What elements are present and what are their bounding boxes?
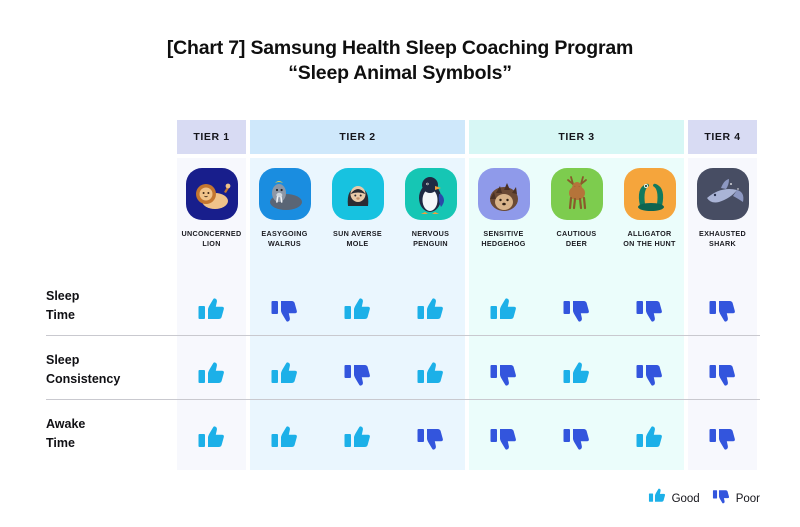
thumbs-down-icon xyxy=(540,408,613,468)
hedgehog-icon xyxy=(478,168,530,220)
row-label-1: SleepTime xyxy=(46,287,79,325)
animal-label-line-1: CAUTIOUS xyxy=(540,229,613,239)
legend: GoodPoor xyxy=(648,487,760,510)
animal-label: NERVOUSPENGUIN xyxy=(394,229,467,248)
thumbs-up-icon xyxy=(540,344,613,404)
animal-label: SUN AVERSEMOLE xyxy=(321,229,394,248)
animal-label-line-2: LION xyxy=(175,239,248,249)
thumbs-up-icon xyxy=(394,280,467,340)
row-divider-2 xyxy=(46,399,760,400)
title-line-2: “Sleep Animal Symbols” xyxy=(0,61,800,86)
walrus-icon xyxy=(259,168,311,220)
thumbs-down-icon xyxy=(540,280,613,340)
thumbs-up-icon xyxy=(394,344,467,404)
legend-item-2: Poor xyxy=(712,487,760,510)
mole-icon xyxy=(332,168,384,220)
shark-icon xyxy=(697,168,749,220)
thumbs-up-icon xyxy=(175,280,248,340)
legend-label: Poor xyxy=(736,493,760,505)
tier-header-4: TIER 4 xyxy=(688,120,757,154)
thumbs-down-icon xyxy=(686,280,759,340)
row-label-line-1: Sleep xyxy=(46,351,120,370)
animal-label: SENSITIVEHEDGEHOG xyxy=(467,229,540,248)
animal-label: CAUTIOUSDEER xyxy=(540,229,613,248)
page-title: [Chart 7] Samsung Health Sleep Coaching … xyxy=(0,36,800,86)
thumbs-up-icon xyxy=(321,408,394,468)
animal-label-line-2: DEER xyxy=(540,239,613,249)
thumbs-down-icon xyxy=(613,344,686,404)
thumbs-up-icon xyxy=(467,280,540,340)
animal-label-line-2: MOLE xyxy=(321,239,394,249)
animal-label-line-2: WALRUS xyxy=(248,239,321,249)
tier-header-label: TIER 1 xyxy=(193,131,229,143)
penguin-icon xyxy=(405,168,457,220)
thumbs-down-icon xyxy=(686,408,759,468)
tier-header-label: TIER 2 xyxy=(339,131,375,143)
animal-label-line-2: PENGUIN xyxy=(394,239,467,249)
animal-column-3: SUN AVERSEMOLE xyxy=(321,158,394,248)
tier-header-2: TIER 2 xyxy=(250,120,465,154)
animal-label: EASYGOINGWALRUS xyxy=(248,229,321,248)
thumbs-down-icon xyxy=(686,344,759,404)
row-label-line-2: Time xyxy=(46,434,85,453)
thumbs-up-icon xyxy=(175,344,248,404)
animal-label-line-2: ON THE HUNT xyxy=(613,239,686,249)
title-line-1: [Chart 7] Samsung Health Sleep Coaching … xyxy=(0,36,800,61)
animal-label-line-1: SUN AVERSE xyxy=(321,229,394,239)
alligator-icon xyxy=(624,168,676,220)
thumbs-down-icon xyxy=(467,344,540,404)
animal-column-6: CAUTIOUSDEER xyxy=(540,158,613,248)
animal-label-line-1: ALLIGATOR xyxy=(613,229,686,239)
animal-column-2: EASYGOINGWALRUS xyxy=(248,158,321,248)
thumbs-down-icon xyxy=(467,408,540,468)
animal-column-1: UNCONCERNEDLION xyxy=(175,158,248,248)
thumbs-up-icon xyxy=(613,408,686,468)
animal-label-line-1: UNCONCERNED xyxy=(175,229,248,239)
row-label-line-2: Time xyxy=(46,306,79,325)
row-label-3: AwakeTime xyxy=(46,415,85,453)
thumbs-down-icon xyxy=(712,487,731,510)
tier-header-label: TIER 3 xyxy=(558,131,594,143)
tier-header-3: TIER 3 xyxy=(469,120,684,154)
animal-label-line-2: SHARK xyxy=(686,239,759,249)
thumbs-down-icon xyxy=(248,280,321,340)
legend-label: Good xyxy=(672,493,700,505)
animal-label-line-1: EASYGOING xyxy=(248,229,321,239)
thumbs-up-icon xyxy=(248,408,321,468)
animal-label-line-1: NERVOUS xyxy=(394,229,467,239)
row-divider-1 xyxy=(46,335,760,336)
row-label-2: SleepConsistency xyxy=(46,351,120,389)
thumbs-down-icon xyxy=(613,280,686,340)
thumbs-down-icon xyxy=(394,408,467,468)
animal-label: UNCONCERNEDLION xyxy=(175,229,248,248)
thumbs-up-icon xyxy=(648,487,667,510)
animal-column-4: NERVOUSPENGUIN xyxy=(394,158,467,248)
animal-label: EXHAUSTEDSHARK xyxy=(686,229,759,248)
deer-icon xyxy=(551,168,603,220)
tier-header-label: TIER 4 xyxy=(704,131,740,143)
animal-column-7: ALLIGATORON THE HUNT xyxy=(613,158,686,248)
lion-icon xyxy=(186,168,238,220)
row-label-line-1: Awake xyxy=(46,415,85,434)
animal-column-8: EXHAUSTEDSHARK xyxy=(686,158,759,248)
tier-header-row: TIER 1TIER 2TIER 3TIER 4 xyxy=(175,120,760,154)
animal-label-line-1: SENSITIVE xyxy=(467,229,540,239)
legend-item-1: Good xyxy=(648,487,700,510)
thumbs-down-icon xyxy=(321,344,394,404)
tier-header-1: TIER 1 xyxy=(177,120,246,154)
thumbs-up-icon xyxy=(248,344,321,404)
animal-label: ALLIGATORON THE HUNT xyxy=(613,229,686,248)
animal-label-line-2: HEDGEHOG xyxy=(467,239,540,249)
animal-column-5: SENSITIVEHEDGEHOG xyxy=(467,158,540,248)
thumbs-up-icon xyxy=(321,280,394,340)
row-label-line-2: Consistency xyxy=(46,370,120,389)
animal-label-line-1: EXHAUSTED xyxy=(686,229,759,239)
thumbs-up-icon xyxy=(175,408,248,468)
row-label-line-1: Sleep xyxy=(46,287,79,306)
